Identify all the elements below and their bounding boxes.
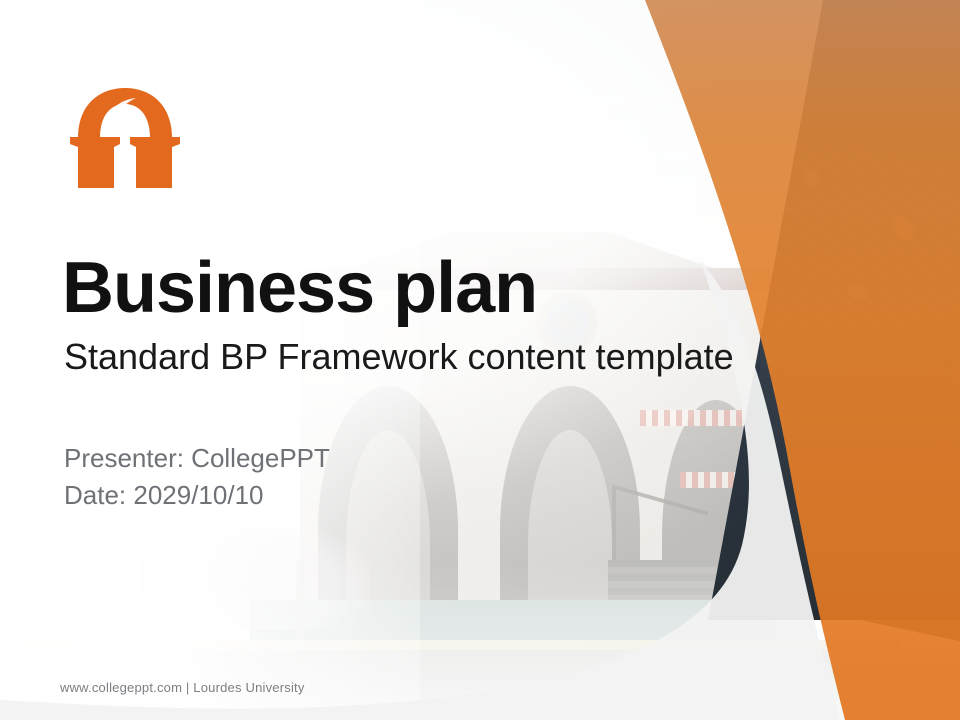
page-subtitle: Standard BP Framework content template <box>64 337 822 377</box>
arch-logo-icon <box>64 86 186 194</box>
presenter-line: Presenter: CollegePPT <box>64 440 330 477</box>
page-title: Business plan <box>62 252 822 325</box>
title-text-block: Business plan Standard BP Framework cont… <box>62 252 822 377</box>
presenter-meta: Presenter: CollegePPT Date: 2029/10/10 <box>64 440 330 514</box>
title-slide: Business plan Standard BP Framework cont… <box>0 0 960 720</box>
date-line: Date: 2029/10/10 <box>64 477 330 514</box>
slide-footer: www.collegeppt.com | Lourdes University <box>60 680 305 695</box>
